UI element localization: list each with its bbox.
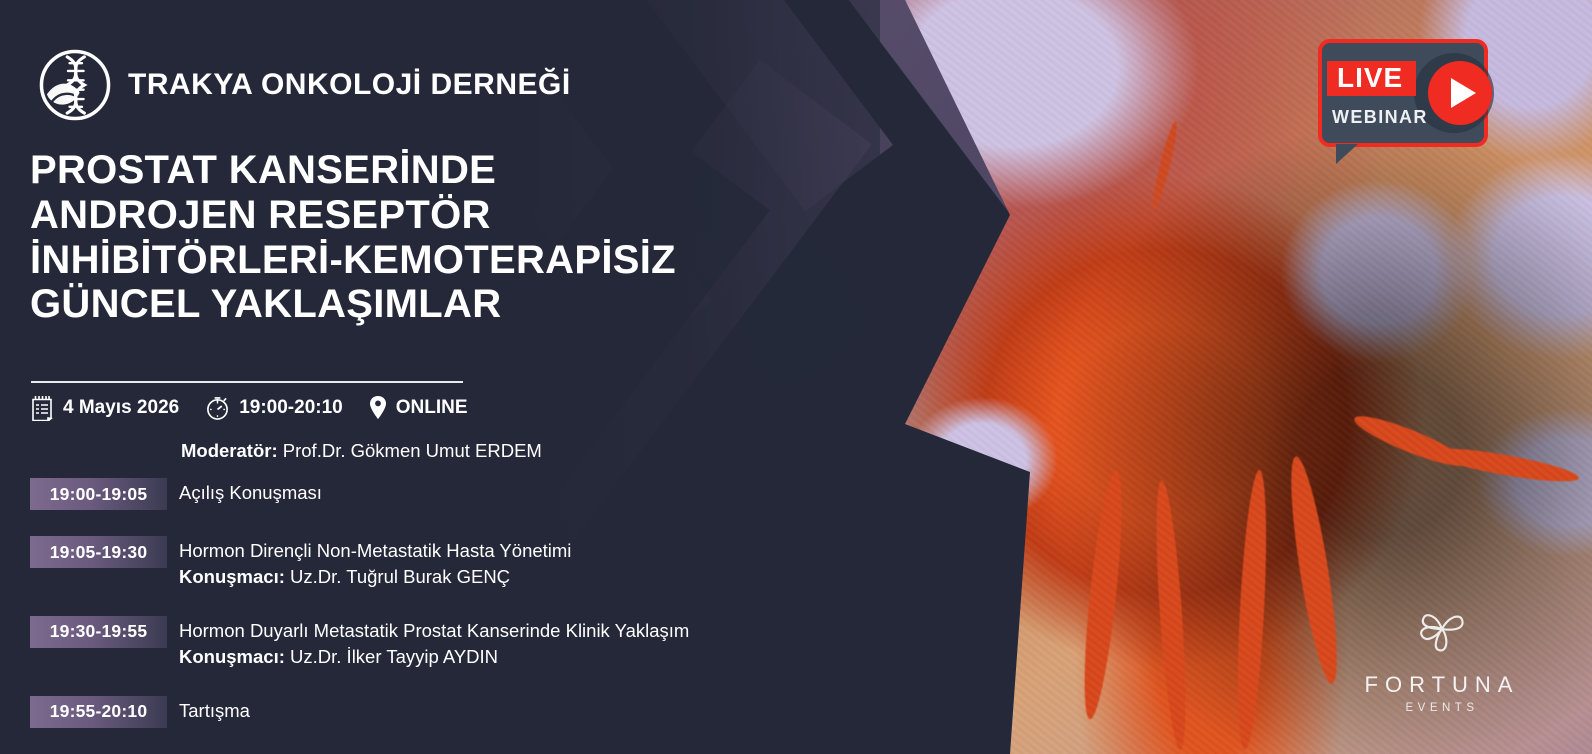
webinar-label: WEBINAR	[1332, 107, 1428, 128]
calendar-icon	[30, 395, 54, 421]
title-line-4: GÜNCEL YAKLAŞIMLAR	[30, 282, 830, 327]
agenda-time-badge: 19:30-19:55	[30, 616, 167, 648]
agenda-session-title: Tartışma	[179, 699, 250, 724]
cell-tendril	[1233, 470, 1272, 751]
agenda-row: 19:30-19:55 Hormon Duyarlı Metastatik Pr…	[30, 616, 870, 670]
cell-tendril	[1149, 120, 1180, 210]
agenda-row: 19:00-19:05 Açılış Konuşması	[30, 478, 870, 510]
brand-name: TRAKYA ONKOLOJİ DERNEĞİ	[128, 68, 571, 102]
cell-tendril	[1429, 442, 1580, 488]
live-webinar-badge[interactable]: LIVE WEBINAR	[1318, 39, 1488, 147]
agenda-row-text: Tartışma	[179, 696, 250, 724]
moderator-name: Prof.Dr. Gökmen Umut ERDEM	[283, 440, 542, 461]
agenda-row: 19:05-19:30 Hormon Dirençli Non-Metastat…	[30, 536, 870, 590]
title-line-1: PROSTAT KANSERİNDE	[30, 148, 830, 193]
agenda-speaker: Konuşmacı: Uz.Dr. İlker Tayyip AYDIN	[179, 645, 689, 670]
content-layer: TRAKYA ONKOLOJİ DERNEĞİ PROSTAT KANSERİN…	[0, 0, 900, 754]
four-leaf-clover-icon	[1401, 588, 1483, 670]
event-time: 19:00-20:10	[239, 397, 343, 419]
dna-wave-circle-icon	[36, 46, 114, 124]
agenda-session-title: Hormon Dirençli Non-Metastatik Hasta Yön…	[179, 539, 571, 564]
page-title: PROSTAT KANSERİNDE ANDROJEN RESEPTÖR İNH…	[30, 148, 830, 327]
agenda-time-badge: 19:55-20:10	[30, 696, 167, 728]
cell-tendril	[1350, 408, 1470, 473]
sponsor-name: FORTUNA	[1365, 672, 1520, 698]
sponsor-subtitle: EVENTS	[1405, 702, 1478, 714]
agenda-time-badge: 19:05-19:30	[30, 536, 167, 568]
agenda-speaker-name: Uz.Dr. Tuğrul Burak GENÇ	[290, 566, 510, 587]
agenda-speaker-label: Konuşmacı:	[179, 646, 285, 667]
agenda-time-badge: 19:00-19:05	[30, 478, 167, 510]
agenda-session-title: Hormon Duyarlı Metastatik Prostat Kanser…	[179, 619, 689, 644]
agenda-speaker: Konuşmacı: Uz.Dr. Tuğrul Burak GENÇ	[179, 565, 571, 590]
title-line-2: ANDROJEN RESEPTÖR	[30, 193, 830, 238]
agenda-speaker-name: Uz.Dr. İlker Tayyip AYDIN	[290, 646, 498, 667]
title-line-3: İNHİBİTÖRLERİ-KEMOTERAPİSİZ	[30, 238, 830, 283]
play-triangle-icon	[1451, 78, 1476, 108]
live-tag: LIVE	[1327, 61, 1416, 96]
agenda-list: 19:00-19:05 Açılış Konuşması 19:05-19:30…	[30, 478, 870, 748]
agenda-row-text: Hormon Dirençli Non-Metastatik Hasta Yön…	[179, 536, 571, 590]
cell-tendril	[1282, 454, 1346, 686]
event-location: ONLINE	[396, 397, 468, 419]
bubble-tail	[1336, 144, 1358, 164]
cell-tendril	[1077, 469, 1129, 720]
location-pin-icon	[369, 395, 387, 420]
agenda-row-text: Açılış Konuşması	[179, 478, 322, 506]
event-date: 4 Mayıs 2026	[63, 397, 179, 419]
play-button[interactable]	[1428, 61, 1492, 125]
agenda-speaker-label: Konuşmacı:	[179, 566, 285, 587]
agenda-row: 19:55-20:10 Tartışma	[30, 696, 870, 728]
moderator-line: Moderatör: Prof.Dr. Gökmen Umut ERDEM	[181, 440, 542, 462]
webinar-banner: TRAKYA ONKOLOJİ DERNEĞİ PROSTAT KANSERİN…	[0, 0, 1592, 754]
agenda-row-text: Hormon Duyarlı Metastatik Prostat Kanser…	[179, 616, 689, 670]
title-divider	[31, 381, 463, 383]
sponsor-logo: FORTUNA EVENTS	[1372, 588, 1512, 714]
stopwatch-icon	[205, 394, 230, 421]
cell-tendril	[1151, 480, 1192, 751]
moderator-label: Moderatör:	[181, 440, 278, 461]
agenda-session-title: Açılış Konuşması	[179, 481, 322, 506]
event-meta: 4 Mayıs 2026 19:00-20:10 ONLINE	[30, 394, 468, 421]
brand-header: TRAKYA ONKOLOJİ DERNEĞİ	[36, 46, 571, 124]
